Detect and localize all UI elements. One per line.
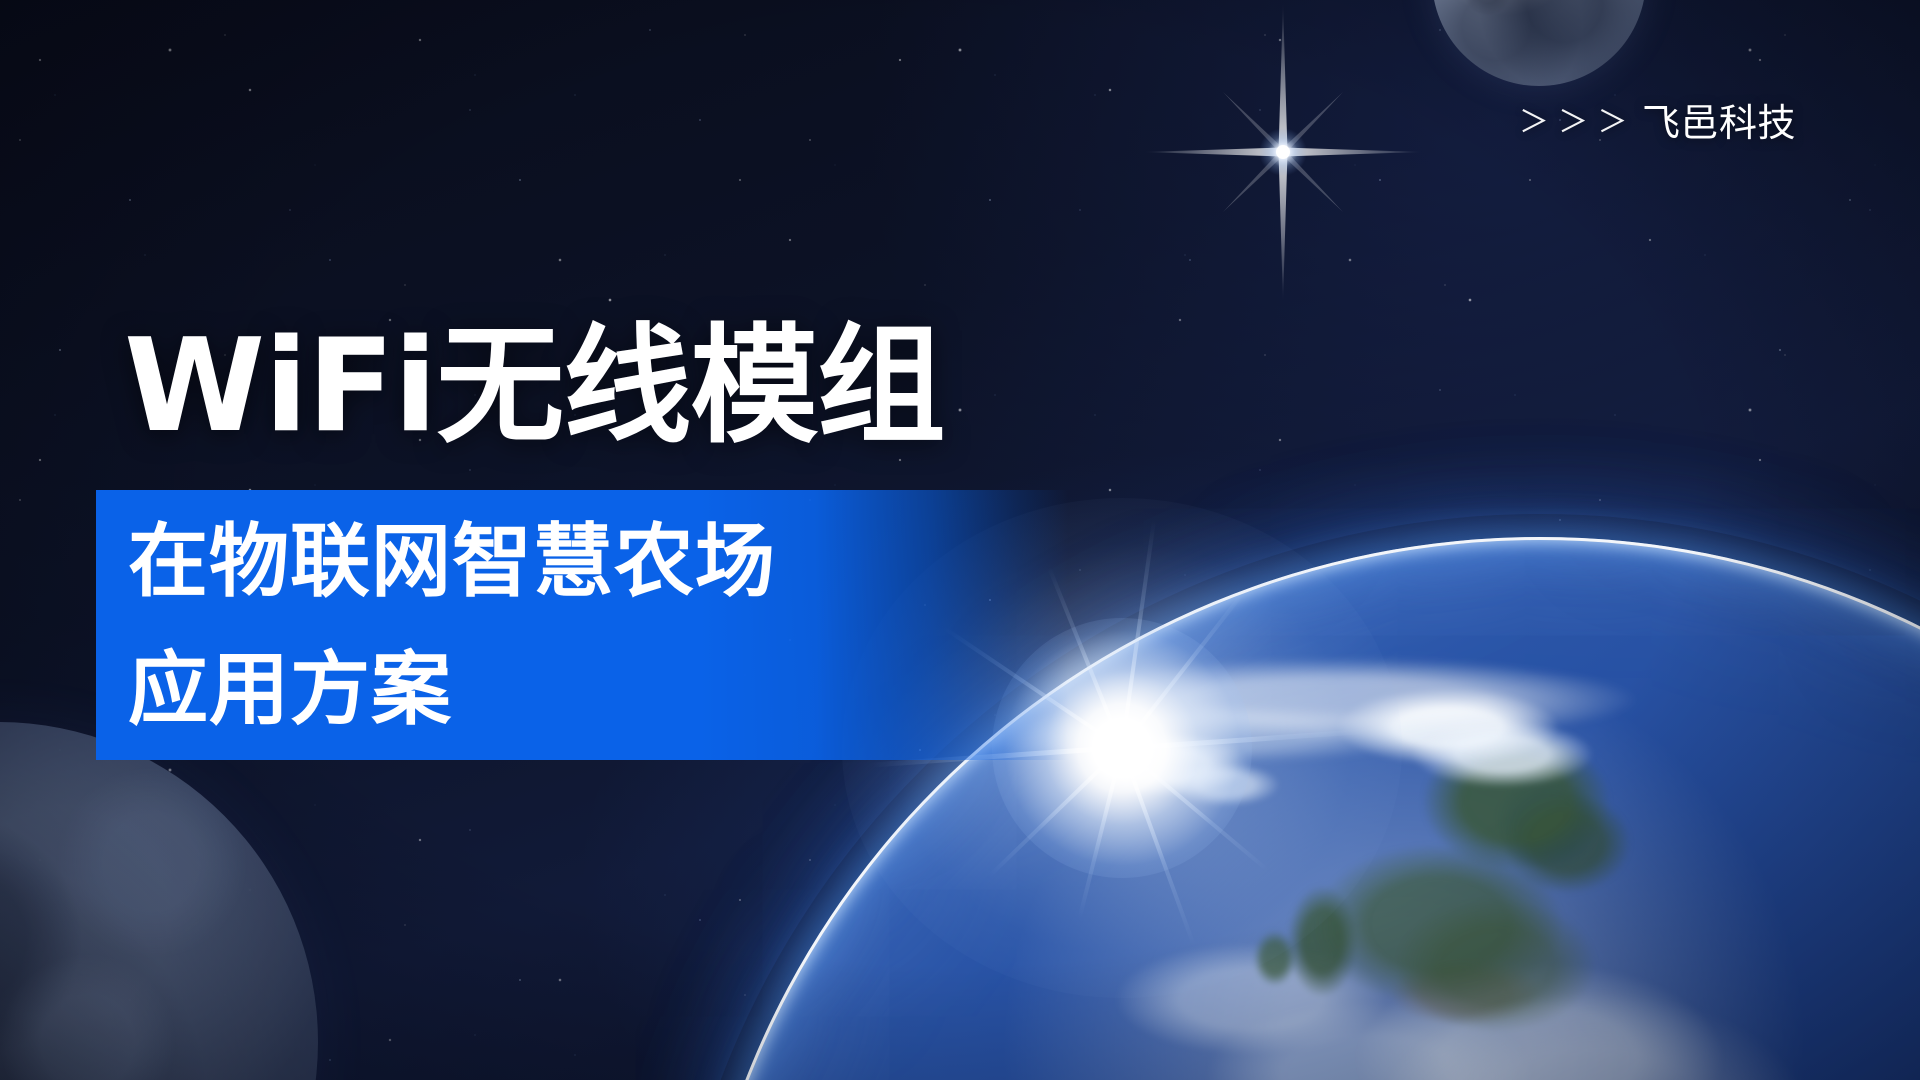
sun-flare-ray-7 (1121, 746, 1269, 871)
moon-bottom-left (0, 722, 318, 1080)
chevron-right-icon: ＞ ＞ ＞ (1519, 108, 1628, 138)
subtitle-line-2: 应用方案 (128, 626, 1028, 754)
presentation-slide: ＞ ＞ ＞ 飞邑科技 WiFi无线模组 在物联网智慧农场 应用方案 (0, 0, 1920, 1080)
bright-star-icon (1113, 2, 1453, 302)
sun-flare-ray-6 (1122, 729, 1372, 751)
moon-top-right (1432, 0, 1646, 86)
page-title: WiFi无线模组 (124, 318, 944, 456)
sun-flare-ray-4 (1120, 520, 1156, 748)
sun-flare-ray-5 (1120, 589, 1246, 749)
sun-flare-ray-8 (1120, 747, 1196, 946)
brand-name: 飞邑科技 (1642, 104, 1796, 142)
subtitle-line-1: 在物联网智慧农场 (128, 498, 1028, 626)
sun-flare-ray-9 (1078, 748, 1124, 919)
brand-logo: ＞ ＞ ＞ 飞邑科技 (1519, 104, 1796, 142)
sun-flare-ray-10 (988, 747, 1124, 878)
subtitle-block: 在物联网智慧农场 应用方案 (128, 498, 1028, 754)
